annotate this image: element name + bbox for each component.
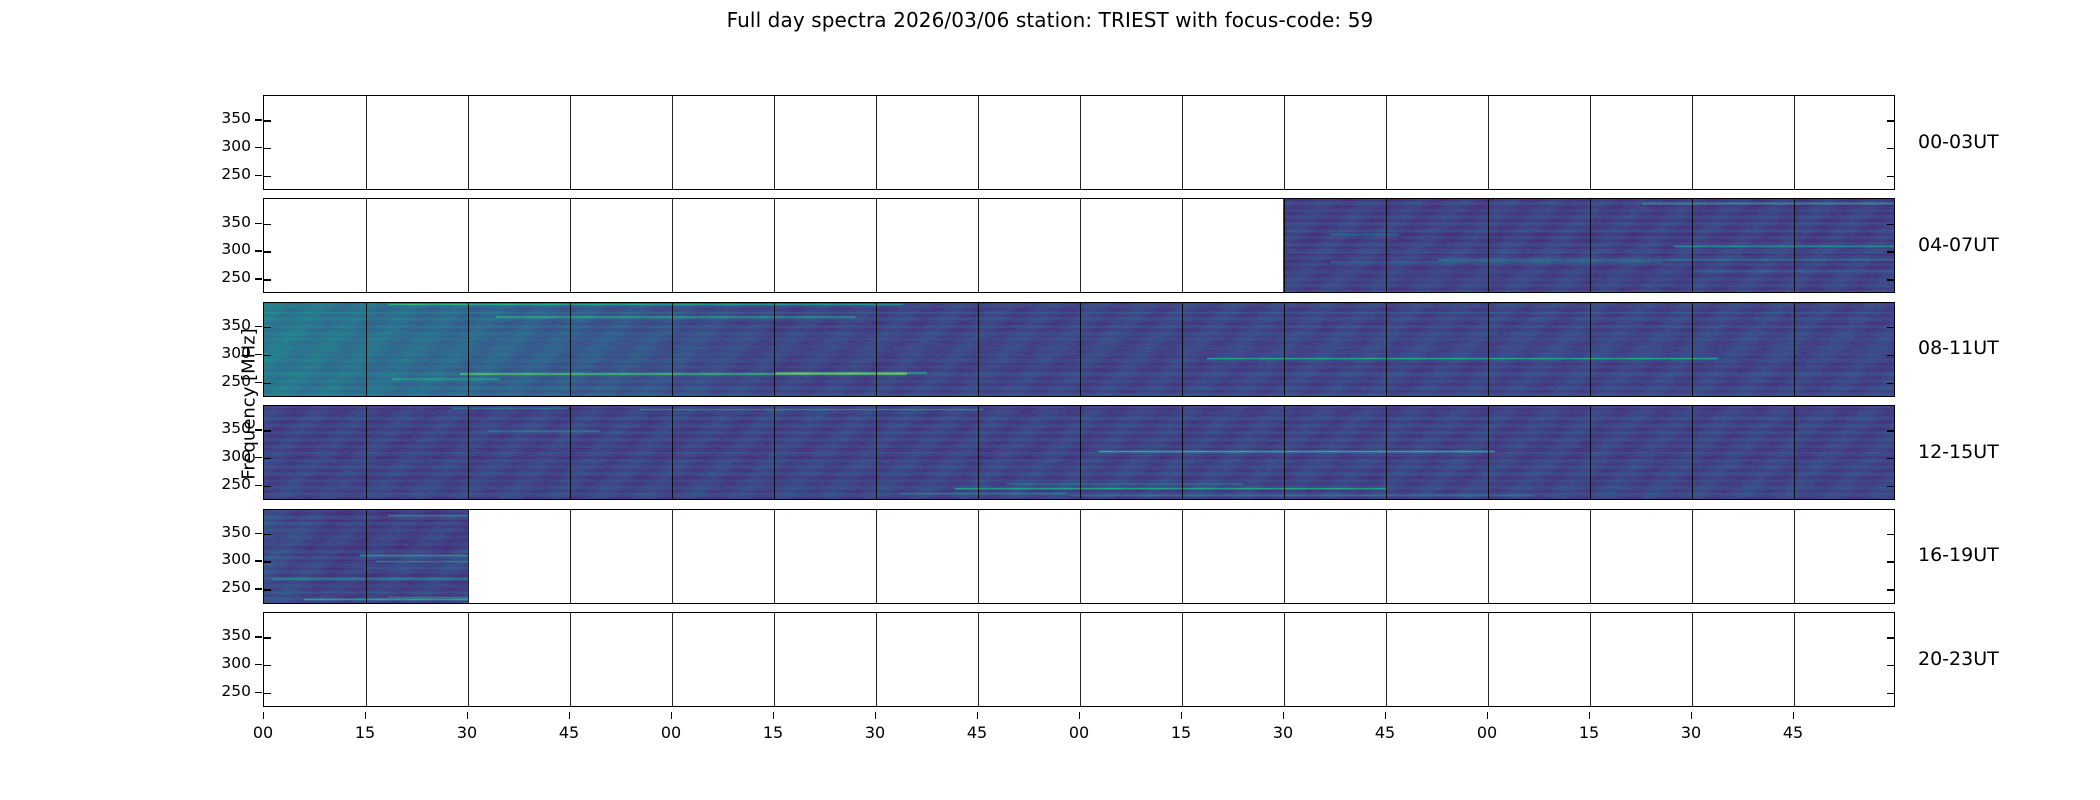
x-tick-label: 30	[1263, 723, 1303, 742]
panel-gridline	[468, 303, 469, 396]
spectrogram-figure: Full day spectra 2026/03/06 station: TRI…	[0, 0, 2100, 800]
panel-gridline	[1794, 96, 1795, 189]
panel-gridline	[1284, 303, 1285, 396]
y-tick-mark-outer	[255, 560, 262, 561]
y-tick-mark	[264, 355, 271, 356]
panel-gridline	[1692, 96, 1693, 189]
panel-gridline	[1488, 303, 1489, 396]
y-tick-mark	[264, 251, 271, 252]
row-label-12-15ut: 12-15UT	[1918, 441, 1999, 463]
y-tick-mark	[264, 561, 271, 562]
y-tick-label: 300	[201, 552, 251, 568]
panel-gridline	[1488, 613, 1489, 706]
panel-gridline	[1080, 199, 1081, 292]
x-tick-mark	[569, 712, 570, 719]
x-tick-mark	[1283, 712, 1284, 719]
y-tick-mark-outer	[255, 278, 262, 279]
x-tick-label: 00	[651, 723, 691, 742]
y-tick-mark	[1887, 486, 1894, 487]
y-tick-mark	[1887, 458, 1894, 459]
y-tick-label: 350	[201, 215, 251, 231]
panel-gridline	[978, 406, 979, 499]
y-tick-mark	[1887, 383, 1894, 384]
panel-gridline	[1794, 303, 1795, 396]
panel-gridline	[672, 613, 673, 706]
y-tick-mark	[1887, 665, 1894, 666]
y-tick-mark	[264, 665, 271, 666]
panel-gridline	[366, 406, 367, 499]
panel-gridline	[1488, 406, 1489, 499]
panel-gridline	[1182, 303, 1183, 396]
spectrogram-image	[264, 510, 1894, 603]
row-label-16-19ut: 16-19UT	[1918, 544, 1999, 566]
y-tick-mark	[1887, 534, 1894, 535]
y-tick-label: 300	[201, 139, 251, 155]
panel-gridline	[1284, 613, 1285, 706]
y-tick-mark	[264, 589, 271, 590]
y-tick-mark-outer	[255, 250, 262, 251]
panel-gridline	[1284, 510, 1285, 603]
panel-gridline	[1080, 510, 1081, 603]
panel-gridline	[1080, 303, 1081, 396]
y-tick-label: 350	[201, 318, 251, 334]
row-label-08-11ut: 08-11UT	[1918, 337, 1999, 359]
panel-gridline	[1386, 406, 1387, 499]
panel-gridline	[876, 613, 877, 706]
panel-gridline	[978, 613, 979, 706]
y-tick-label: 250	[201, 167, 251, 183]
panel-gridline	[1182, 96, 1183, 189]
panel-gridline	[774, 406, 775, 499]
y-tick-mark-outer	[255, 326, 262, 327]
y-tick-label: 300	[201, 242, 251, 258]
panel-gridline	[876, 303, 877, 396]
panel-gridline	[1794, 199, 1795, 292]
panel-gridline	[1692, 303, 1693, 396]
page-title: Full day spectra 2026/03/06 station: TRI…	[0, 8, 2100, 32]
panel-gridline	[1182, 199, 1183, 292]
panel-gridline	[1488, 96, 1489, 189]
panel-gridline	[1692, 199, 1693, 292]
panel-gridline	[1692, 613, 1693, 706]
y-tick-label: 250	[201, 580, 251, 596]
y-tick-mark	[264, 693, 271, 694]
panel-gridline	[1284, 199, 1285, 292]
y-tick-mark	[264, 176, 271, 177]
panel-gridline	[1386, 303, 1387, 396]
panel-gridline	[1488, 510, 1489, 603]
panel-gridline	[1692, 406, 1693, 499]
panel-gridline	[672, 96, 673, 189]
y-tick-mark	[1887, 176, 1894, 177]
panel-gridline	[876, 199, 877, 292]
panel-gridline	[468, 199, 469, 292]
x-tick-label: 15	[753, 723, 793, 742]
x-tick-mark	[467, 712, 468, 719]
y-tick-mark-outer	[255, 588, 262, 589]
x-tick-label: 15	[1569, 723, 1609, 742]
panel-gridline	[1386, 510, 1387, 603]
panel-gridline	[1080, 96, 1081, 189]
x-tick-mark	[263, 712, 264, 719]
panel-gridline	[1488, 199, 1489, 292]
y-tick-mark	[264, 430, 271, 431]
panel-gridline	[1692, 510, 1693, 603]
panel-gridline	[774, 303, 775, 396]
panel-gridline	[468, 96, 469, 189]
spectrogram-image	[264, 199, 1894, 292]
y-tick-mark	[264, 279, 271, 280]
y-tick-mark	[264, 458, 271, 459]
x-tick-mark	[875, 712, 876, 719]
spectrogram-image	[264, 406, 1894, 499]
y-tick-mark	[264, 534, 271, 535]
panel-gridline	[774, 613, 775, 706]
spectrogram-panel-20-23ut[interactable]	[263, 612, 1895, 707]
y-tick-mark	[264, 327, 271, 328]
panel-gridline	[366, 303, 367, 396]
panel-gridline	[1590, 406, 1591, 499]
panel-gridline	[774, 96, 775, 189]
panel-gridline	[570, 613, 571, 706]
panel-gridline	[366, 199, 367, 292]
y-tick-mark-outer	[255, 429, 262, 430]
y-tick-label: 250	[201, 477, 251, 493]
panel-gridline	[774, 510, 775, 603]
y-tick-mark	[1887, 251, 1894, 252]
panel-gridline	[672, 406, 673, 499]
panel-gridline	[1590, 96, 1591, 189]
panel-gridline	[570, 199, 571, 292]
y-tick-label: 350	[201, 628, 251, 644]
y-tick-mark-outer	[255, 457, 262, 458]
y-axis-title-anchor: Frequency [MHz]	[205, 95, 206, 712]
panel-gridline	[1284, 96, 1285, 189]
x-tick-mark	[773, 712, 774, 719]
y-tick-mark	[1887, 327, 1894, 328]
x-tick-label: 00	[1059, 723, 1099, 742]
y-tick-mark	[1887, 279, 1894, 280]
panel-gridline	[570, 303, 571, 396]
panel-gridline	[1794, 406, 1795, 499]
y-tick-mark-outer	[255, 354, 262, 355]
panel-gridline	[1794, 613, 1795, 706]
y-tick-mark	[264, 148, 271, 149]
spectrogram-panel-00-03ut[interactable]	[263, 95, 1895, 190]
panel-gridline	[1080, 613, 1081, 706]
y-tick-label: 250	[201, 270, 251, 286]
y-tick-mark	[1887, 148, 1894, 149]
panel-gridline	[1386, 199, 1387, 292]
x-tick-label: 45	[1365, 723, 1405, 742]
panel-gridline	[774, 199, 775, 292]
panel-gridline	[1182, 406, 1183, 499]
y-tick-label: 350	[201, 421, 251, 437]
y-tick-mark	[1887, 637, 1894, 638]
x-tick-mark	[671, 712, 672, 719]
y-tick-mark-outer	[255, 382, 262, 383]
y-tick-mark-outer	[255, 636, 262, 637]
y-tick-label: 350	[201, 111, 251, 127]
y-tick-label: 350	[201, 525, 251, 541]
y-tick-label: 250	[201, 374, 251, 390]
spectrogram-panel-12-15ut[interactable]	[263, 405, 1895, 500]
row-label-00-03ut: 00-03UT	[1918, 131, 1999, 153]
x-tick-label: 30	[1671, 723, 1711, 742]
panel-gridline	[366, 613, 367, 706]
panel-gridline	[1590, 613, 1591, 706]
panel-gridline	[366, 96, 367, 189]
y-tick-mark	[264, 383, 271, 384]
x-tick-mark	[1589, 712, 1590, 719]
panel-gridline	[570, 406, 571, 499]
panel-gridline	[672, 510, 673, 603]
x-tick-label: 45	[549, 723, 589, 742]
x-tick-mark	[1793, 712, 1794, 719]
y-tick-mark	[1887, 561, 1894, 562]
panel-gridline	[1182, 613, 1183, 706]
y-tick-mark	[1887, 355, 1894, 356]
y-tick-label: 300	[201, 346, 251, 362]
x-tick-label: 00	[243, 723, 283, 742]
panel-gridline	[876, 96, 877, 189]
panel-gridline	[672, 199, 673, 292]
x-tick-label: 30	[447, 723, 487, 742]
row-label-04-07ut: 04-07UT	[1918, 234, 1999, 256]
panel-gridline	[1386, 96, 1387, 189]
y-tick-mark	[264, 486, 271, 487]
y-tick-mark	[1887, 120, 1894, 121]
y-tick-mark	[1887, 430, 1894, 431]
x-tick-mark	[977, 712, 978, 719]
panel-gridline	[1284, 406, 1285, 499]
spectrogram-panel-04-07ut[interactable]	[263, 198, 1895, 293]
y-tick-mark-outer	[255, 692, 262, 693]
panel-gridline	[1590, 303, 1591, 396]
y-tick-mark-outer	[255, 485, 262, 486]
y-tick-mark	[264, 120, 271, 121]
x-tick-label: 45	[1773, 723, 1813, 742]
x-tick-label: 15	[345, 723, 385, 742]
x-tick-mark	[365, 712, 366, 719]
y-tick-mark-outer	[255, 175, 262, 176]
spectrogram-image	[264, 303, 1894, 396]
y-tick-label: 300	[201, 449, 251, 465]
panel-gridline	[978, 303, 979, 396]
panel-gridline	[876, 406, 877, 499]
panel-gridline	[1794, 510, 1795, 603]
panel-gridline	[1590, 510, 1591, 603]
x-tick-label: 30	[855, 723, 895, 742]
panel-gridline	[366, 510, 367, 603]
x-tick-label: 45	[957, 723, 997, 742]
y-axis-title: Frequency [MHz]	[239, 274, 260, 534]
y-tick-mark	[1887, 589, 1894, 590]
x-tick-mark	[1181, 712, 1182, 719]
panel-gridline	[978, 510, 979, 603]
panel-gridline	[1386, 613, 1387, 706]
x-tick-mark	[1079, 712, 1080, 719]
spectrogram-panel-08-11ut[interactable]	[263, 302, 1895, 397]
y-tick-mark-outer	[255, 223, 262, 224]
y-tick-mark	[264, 637, 271, 638]
panel-gridline	[1080, 406, 1081, 499]
y-tick-mark	[264, 224, 271, 225]
y-tick-label: 250	[201, 684, 251, 700]
y-tick-mark-outer	[255, 147, 262, 148]
x-tick-mark	[1487, 712, 1488, 719]
panel-gridline	[1590, 199, 1591, 292]
y-tick-mark-outer	[255, 533, 262, 534]
x-tick-label: 15	[1161, 723, 1201, 742]
y-tick-label: 300	[201, 656, 251, 672]
x-tick-label: 00	[1467, 723, 1507, 742]
panel-gridline	[468, 510, 469, 603]
y-tick-mark-outer	[255, 664, 262, 665]
row-label-20-23ut: 20-23UT	[1918, 648, 1999, 670]
panel-gridline	[570, 96, 571, 189]
panel-gridline	[570, 510, 571, 603]
panel-gridline	[876, 510, 877, 603]
y-tick-mark-outer	[255, 119, 262, 120]
panel-gridline	[468, 613, 469, 706]
y-tick-mark	[1887, 224, 1894, 225]
panel-gridline	[978, 199, 979, 292]
panel-gridline	[672, 303, 673, 396]
panel-gridline	[978, 96, 979, 189]
panel-gridline	[468, 406, 469, 499]
panel-gridline	[1182, 510, 1183, 603]
spectrogram-panel-16-19ut[interactable]	[263, 509, 1895, 604]
x-tick-mark	[1691, 712, 1692, 719]
y-tick-mark	[1887, 693, 1894, 694]
x-tick-mark	[1385, 712, 1386, 719]
